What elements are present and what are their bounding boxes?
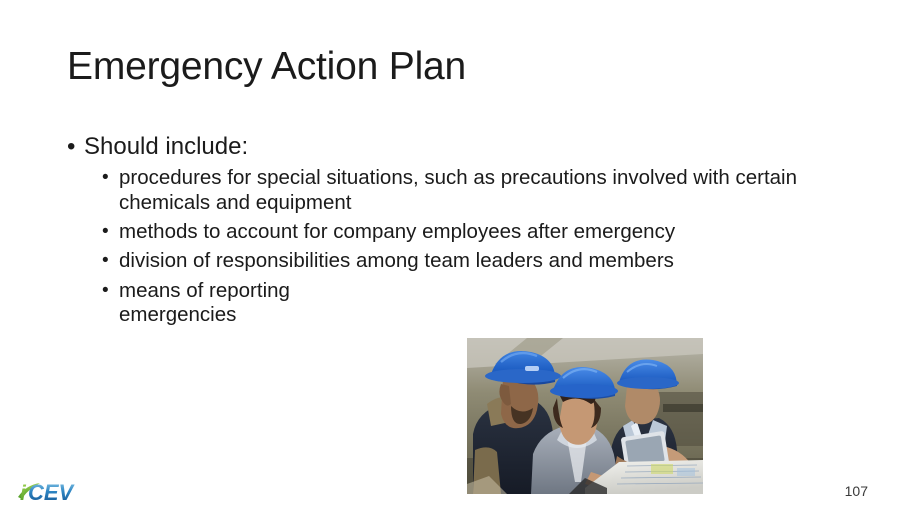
slide: Emergency Action Plan • Should include: … — [0, 0, 900, 506]
list-item: • division of responsibilities among tea… — [101, 249, 836, 273]
svg-text:CEV: CEV — [28, 480, 76, 503]
sub-bullet-list: • procedures for special situations, suc… — [66, 166, 836, 327]
bullet-dot-icon: • — [102, 220, 109, 244]
bullet-dot-icon: • — [102, 279, 109, 303]
bullet-dot-icon: • — [67, 133, 75, 161]
workers-reviewing-blueprints-photo — [467, 338, 703, 494]
bullet-dot-icon: • — [102, 249, 109, 273]
content-body: • Should include: • procedures for speci… — [66, 133, 836, 328]
list-item: • methods to account for company employe… — [101, 220, 836, 244]
list-item-label: division of responsibilities among team … — [119, 249, 836, 273]
list-item-label: procedures for special situations, such … — [119, 166, 836, 215]
page-title: Emergency Action Plan — [67, 46, 466, 88]
list-item: • means of reporting emergencies — [101, 279, 369, 328]
bullet-dot-icon: • — [102, 166, 109, 190]
list-item-label: methods to account for company employees… — [119, 220, 836, 244]
list-item: • procedures for special situations, suc… — [101, 166, 836, 215]
bullet-level1-should-include: • Should include: — [66, 133, 836, 161]
icev-logo: i CEV — [18, 479, 104, 503]
list-item-label: means of reporting emergencies — [119, 279, 369, 328]
bullet-level1-label: Should include: — [84, 133, 248, 160]
page-number: 107 — [845, 483, 868, 499]
